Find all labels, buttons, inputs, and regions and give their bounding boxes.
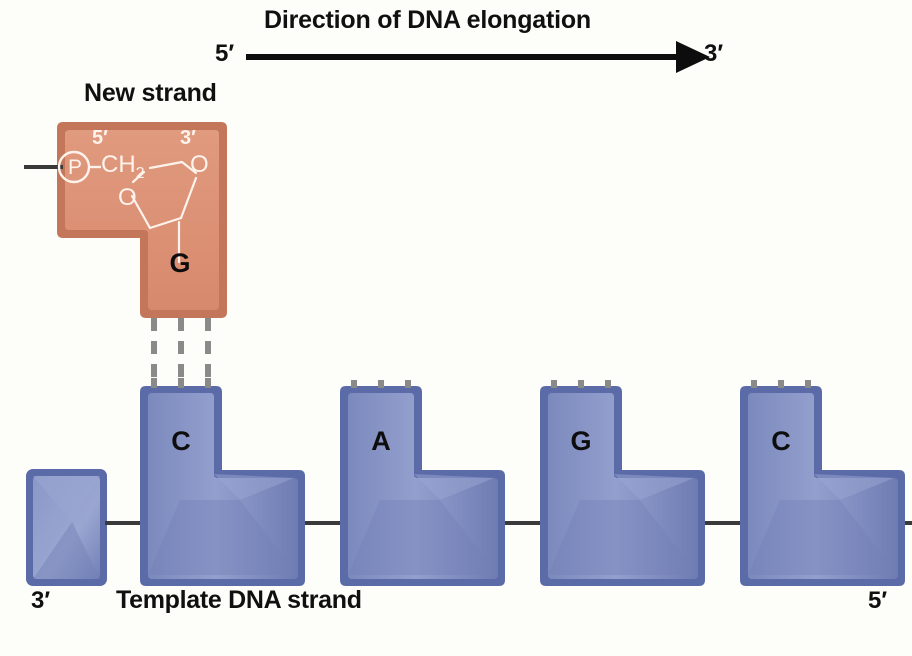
ch2-text: CH	[101, 151, 136, 178]
ch2-label: CH2	[101, 153, 145, 182]
elongation-arrow	[246, 41, 710, 73]
new-nucleotide-base-letter: G	[152, 250, 208, 277]
ring-oxygen-label: O	[118, 186, 137, 210]
sugar-oxygen-3prime-label: O	[190, 153, 209, 177]
template-nucleotide-1	[140, 378, 305, 586]
template-nucleotide-3	[540, 380, 705, 586]
template-nucleotide-2	[340, 380, 505, 586]
template-base-letter-4: C	[753, 428, 809, 455]
carbon-3-prime-label: 3′	[180, 128, 196, 148]
arrow-start-label: 5′	[215, 42, 234, 66]
phosphate-label: P	[68, 157, 82, 178]
template-strand-label: Template DNA strand	[116, 588, 362, 613]
arrow-end-label: 3′	[704, 42, 723, 66]
template-right-end-label: 5′	[868, 589, 887, 613]
dna-elongation-diagram: Direction of DNA elongation 5′ 3′ New st…	[0, 0, 912, 656]
ch2-subscript: 2	[136, 165, 145, 182]
template-nucleotide-partial-left	[26, 469, 107, 586]
template-nucleotide-4	[740, 380, 905, 586]
new-strand-label: New strand	[84, 81, 217, 106]
template-left-end-label: 3′	[31, 589, 50, 613]
carbon-5-prime-label: 5′	[92, 128, 108, 148]
template-base-letter-2: A	[353, 428, 409, 455]
template-base-letter-3: G	[553, 428, 609, 455]
template-base-letter-1: C	[153, 428, 209, 455]
page-title: Direction of DNA elongation	[264, 8, 591, 33]
